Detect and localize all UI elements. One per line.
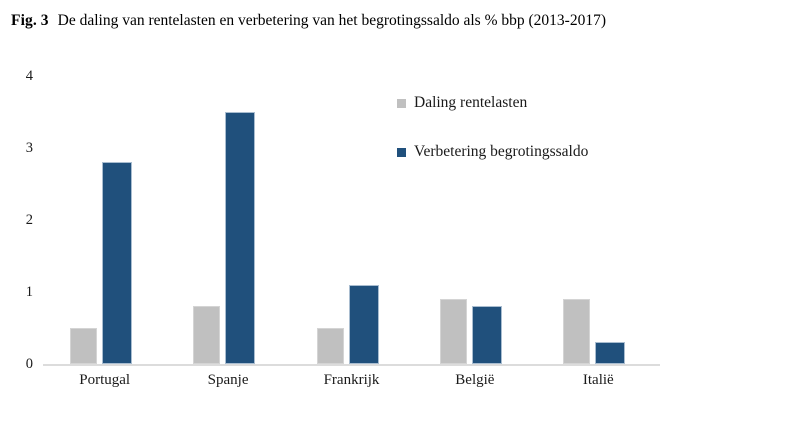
legend-item[interactable]: Daling rentelasten <box>397 92 677 114</box>
legend-item[interactable]: Verbetering begrotingssaldo <box>397 141 677 163</box>
bar[interactable] <box>563 299 590 364</box>
x-axis-tick-label: Portugal <box>43 370 166 390</box>
bar[interactable] <box>193 306 220 364</box>
x-axis-line <box>43 364 660 366</box>
bar[interactable] <box>440 299 467 364</box>
bar-group <box>317 76 379 364</box>
bar-group <box>70 76 132 364</box>
x-axis-tick-label: Frankrijk <box>290 370 413 390</box>
chart-plot-area: 01234 PortugalSpanjeFrankrijkBelgiëItali… <box>0 50 800 427</box>
bar-group <box>193 76 255 364</box>
x-axis: PortugalSpanjeFrankrijkBelgiëItalië <box>43 370 660 400</box>
x-axis-tick-label: België <box>413 370 536 390</box>
legend-swatch-blue-icon <box>397 148 406 157</box>
y-axis-tick-label: 0 <box>9 357 33 371</box>
chart-legend: Daling rentelastenVerbetering begrotings… <box>397 92 677 190</box>
y-axis-tick-label: 2 <box>9 213 33 227</box>
bar[interactable] <box>70 328 97 364</box>
legend-swatch-gray-icon <box>397 99 406 108</box>
bar[interactable] <box>349 285 379 364</box>
bar[interactable] <box>102 162 132 364</box>
y-axis-tick-label: 1 <box>9 285 33 299</box>
y-axis-tick-label: 4 <box>9 69 33 83</box>
figure-title-text: De daling van rentelasten en verbetering… <box>58 12 606 29</box>
figure-caption: Fig. 3De daling van rentelasten en verbe… <box>11 11 791 31</box>
bar[interactable] <box>595 342 625 364</box>
x-axis-tick-label: Italië <box>537 370 660 390</box>
y-axis-tick-label: 3 <box>9 141 33 155</box>
x-axis-tick-label: Spanje <box>166 370 289 390</box>
y-axis: 01234 <box>0 76 33 364</box>
figure-number-label: Fig. 3 <box>11 12 49 29</box>
bar[interactable] <box>317 328 344 364</box>
legend-label: Daling rentelasten <box>414 94 527 112</box>
legend-label: Verbetering begrotingssaldo <box>414 143 588 161</box>
bar[interactable] <box>225 112 255 364</box>
bar[interactable] <box>472 306 502 364</box>
